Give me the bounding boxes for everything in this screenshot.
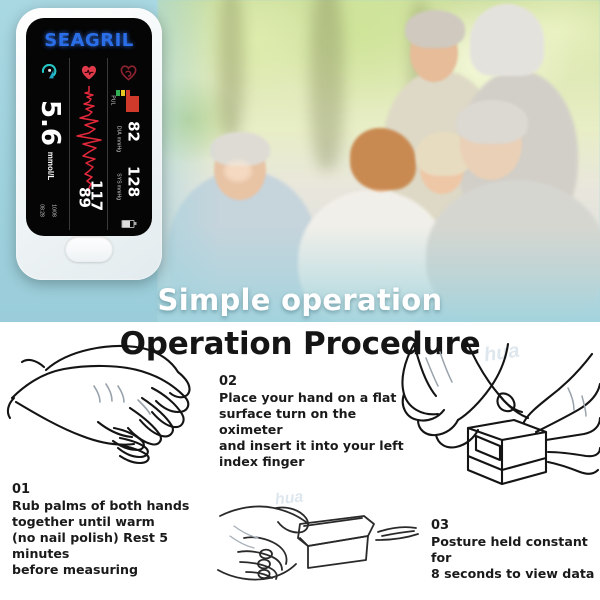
- ecg-value-2: 117: [89, 180, 104, 211]
- hands-rubbing-illustration: [2, 336, 217, 496]
- heart-pressure-icon: [108, 60, 148, 84]
- glucose-column: 5.6 mmol/L 08:28 10/08: [30, 58, 69, 230]
- step-02-number: 02: [219, 374, 419, 389]
- product-infographic: SEAGRIL 5.6 mmol/L 08:28: [0, 0, 600, 600]
- glucose-unit: mmol/L: [46, 152, 54, 180]
- device-screen: SEAGRIL 5.6 mmol/L 08:28: [26, 18, 152, 236]
- dia-label: DIA: [115, 126, 120, 135]
- sys-value: 128: [125, 166, 140, 197]
- glucose-time: 08:28: [39, 204, 44, 217]
- dia-unit: mmHg: [115, 137, 120, 153]
- pressure-gauge: [113, 88, 143, 119]
- sys-label: SYS: [115, 173, 120, 184]
- blood-pressure-column: PUL 82 DIA mmHg 128 SYS mmHg: [107, 58, 148, 230]
- procedure-panel: Operation Procedure hua hua: [0, 322, 600, 600]
- battery-icon: [122, 220, 135, 228]
- oximeter-device: SEAGRIL 5.6 mmol/L 08:28: [16, 8, 162, 280]
- step-03-number: 03: [431, 518, 600, 533]
- banner-headline: Simple operation: [0, 283, 600, 317]
- glucose-value: 5.6: [37, 100, 63, 146]
- blood-drop-glucose-icon: [30, 60, 69, 84]
- hand-inserting-oximeter-illustration: [396, 336, 600, 504]
- lifestyle-photo-panel: SEAGRIL 5.6 mmol/L 08:28: [0, 0, 600, 322]
- step-01-text: Rub palms of both hands together until w…: [12, 498, 217, 579]
- power-button[interactable]: [65, 236, 113, 262]
- step-03-text: Posture held constant for 8 seconds to v…: [431, 534, 600, 582]
- brand-logo: SEAGRIL: [26, 30, 152, 51]
- sys-unit: mmHg: [115, 185, 120, 201]
- device-readouts: 5.6 mmol/L 08:28 10/08: [30, 58, 148, 230]
- dia-value: 82: [125, 121, 140, 142]
- ecg-column: 89 117: [69, 58, 107, 230]
- step-02-text: Place your hand on a flat surface turn o…: [219, 390, 419, 471]
- step-02: 02 Place your hand on a flat surface tur…: [219, 374, 419, 471]
- glucose-date: 10/08: [50, 204, 55, 217]
- step-01-number: 01: [12, 482, 217, 497]
- heart-ecg-icon: [70, 60, 107, 84]
- hand-resting-with-oximeter-illustration: [216, 494, 422, 598]
- pulse-label: PUL: [110, 95, 115, 105]
- photo-background: [158, 0, 600, 322]
- step-03: 03 Posture held constant for 8 seconds t…: [431, 518, 600, 582]
- step-01: 01 Rub palms of both hands together unti…: [12, 482, 217, 579]
